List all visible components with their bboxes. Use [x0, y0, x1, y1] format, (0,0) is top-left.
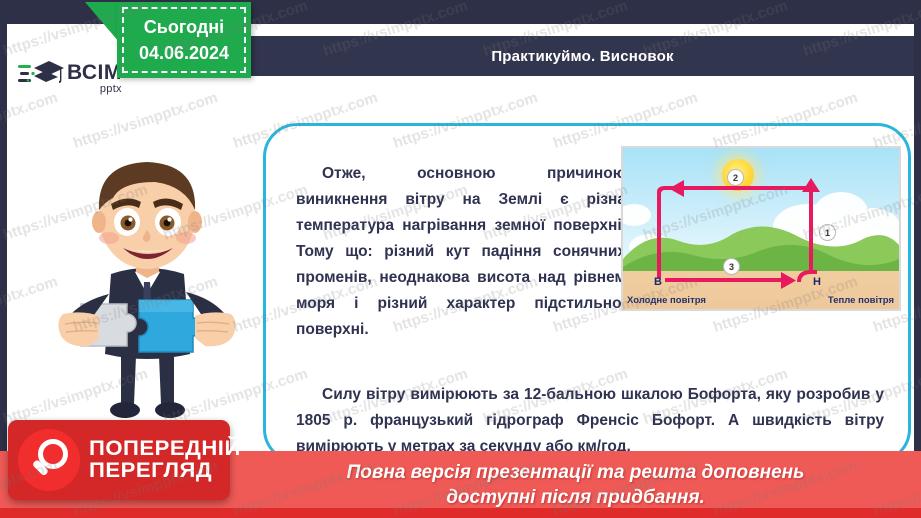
notice-line-2: доступні після придбання.: [446, 485, 705, 510]
conclusion-paragraph-1: Отже, основною причиною виникнення вітру…: [296, 161, 626, 343]
arrow-right-bottom: [665, 278, 785, 282]
slide-frame: ВСІМ pptx: [0, 0, 921, 518]
arrow-left-top: [683, 186, 809, 190]
diagram-letter-low: В: [654, 276, 662, 288]
preview-badge-words: ПОПЕРЕДНІЙ ПЕРЕГЛЯД: [89, 438, 234, 481]
wind-circulation-diagram: 1 2 3: [621, 146, 901, 311]
slide-title-bar: Практикуймо. Висновок: [251, 36, 914, 76]
magnifier-icon: [18, 429, 80, 491]
arrow-corner-left: [653, 184, 677, 198]
conclusion-paragraph-2: Силу вітру вимірюють за 12-бальною шкало…: [296, 382, 884, 460]
content-card: Отже, основною причиною виникнення вітру…: [263, 123, 911, 463]
notice-bottom-strip: [0, 508, 921, 518]
notice-line-1: Повна версія презентації та решта доповн…: [347, 460, 805, 485]
hills-shape: [623, 215, 899, 275]
page-title: Практикуймо. Висновок: [491, 48, 673, 65]
date-badge-label: Сьогодні: [144, 14, 224, 40]
preview-badge-word-1: ПОПЕРЕДНІЙ: [89, 438, 241, 460]
brand-sub: pptx: [67, 84, 122, 95]
diagram-number-2: 2: [727, 169, 744, 186]
graduation-cap-icon: [18, 59, 64, 98]
arrow-up-right: [809, 188, 813, 272]
slide-canvas: ВСІМ pptx: [7, 24, 914, 479]
arrow-down-left: [657, 194, 661, 278]
character-illustration: [35, 142, 260, 442]
date-badge-fold: [85, 2, 119, 42]
date-badge-date: 04.06.2024: [139, 40, 229, 66]
diagram-number-1: 1: [819, 224, 836, 241]
brand-name: ВСІМ: [67, 62, 122, 83]
diagram-number-3: 3: [723, 258, 740, 275]
diagram-letter-high: Н: [813, 276, 821, 288]
preview-badge[interactable]: ПОПЕРЕДНІЙ ПЕРЕГЛЯД: [8, 420, 230, 500]
arrow-head-right: [781, 272, 796, 289]
preview-badge-word-2: ПЕРЕГЛЯД: [89, 460, 241, 482]
diagram-caption-warm: Тепле повітря: [828, 295, 894, 306]
brand-logo-words: ВСІМ pptx: [67, 62, 122, 95]
date-badge: Сьогодні 04.06.2024: [117, 2, 251, 78]
diagram-caption-cold: Холодне повітря: [627, 295, 706, 306]
